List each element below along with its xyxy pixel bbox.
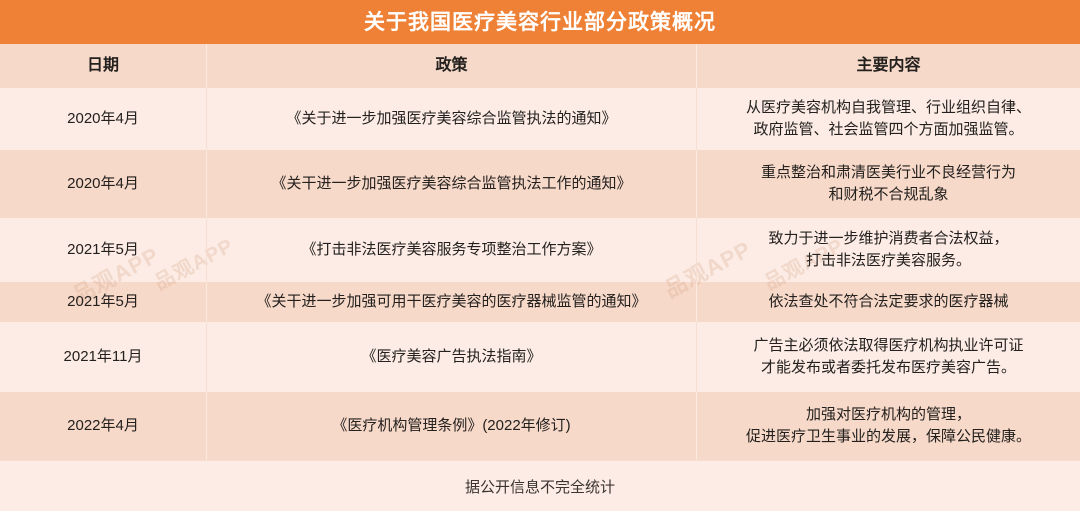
cell-policy: 《打击非法医疗美容服务专项整治工作方案》 [207,218,697,282]
cell-date: 2021年5月 [0,282,207,322]
cell-main: 广告主必须依法取得医疗机构执业许可证 才能发布或者委托发布医疗美容广告。 [697,322,1080,392]
cell-main: 致力于进一步维护消费者合法权益， 打击非法医疗美容服务。 [697,218,1080,282]
table-row: 2021年11月 《医疗美容广告执法指南》 广告主必须依法取得医疗机构执业许可证… [0,322,1080,392]
cell-policy: 《关干进一步加强可用干医疗美容的医疗器械监管的通知》 [207,282,697,322]
cell-date: 2022年4月 [0,392,207,460]
cell-policy: 《医疗机构管理条例》(2022年修订) [207,392,697,460]
policy-table: 日期 政策 主要内容 2020年4月 《关于进一步加强医疗美容综合监管执法的通知… [0,44,1080,460]
table-header-row: 日期 政策 主要内容 [0,44,1080,88]
footer-note: 据公开信息不完全统计 [465,476,615,497]
cell-date: 2021年5月 [0,218,207,282]
cell-policy: 《医疗美容广告执法指南》 [207,322,697,392]
cell-date: 2020年4月 [0,150,207,218]
cell-main: 依法查处不符合法定要求的医疗器械 [697,282,1080,322]
table-row: 2022年4月 《医疗机构管理条例》(2022年修订) 加强对医疗机构的管理， … [0,392,1080,460]
table-row: 2020年4月 《关干进一步加强医疗美容综合监管执法工作的通知》 重点整治和肃清… [0,150,1080,218]
policy-table-card: 品观APP 品观APP 品观APP 品观APP 关于我国医疗美容行业部分政策概况… [0,0,1080,510]
cell-date: 2021年11月 [0,322,207,392]
cell-main: 从医疗美容机构自我管理、行业组织自律、 政府监管、社会监管四个方面加强监管。 [697,88,1080,150]
cell-main: 加强对医疗机构的管理， 促进医疗卫生事业的发展，保障公民健康。 [697,392,1080,460]
column-header-policy: 政策 [207,44,697,88]
table-row: 2021年5月 《关干进一步加强可用干医疗美容的医疗器械监管的通知》 依法查处不… [0,282,1080,322]
column-header-main: 主要内容 [697,44,1080,88]
page-title: 关于我国医疗美容行业部分政策概况 [364,12,716,33]
table-row: 2021年5月 《打击非法医疗美容服务专项整治工作方案》 致力于进一步维护消费者… [0,218,1080,282]
cell-policy: 《关干进一步加强医疗美容综合监管执法工作的通知》 [207,150,697,218]
cell-date: 2020年4月 [0,88,207,150]
table-title-bar: 关于我国医疗美容行业部分政策概况 [0,0,1080,44]
cell-main: 重点整治和肃清医美行业不良经营行为 和财税不合规乱象 [697,150,1080,218]
column-header-date: 日期 [0,44,207,88]
table-row: 2020年4月 《关于进一步加强医疗美容综合监管执法的通知》 从医疗美容机构自我… [0,88,1080,150]
table-footer-row: 据公开信息不完全统计 [0,460,1080,511]
cell-policy: 《关于进一步加强医疗美容综合监管执法的通知》 [207,88,697,150]
